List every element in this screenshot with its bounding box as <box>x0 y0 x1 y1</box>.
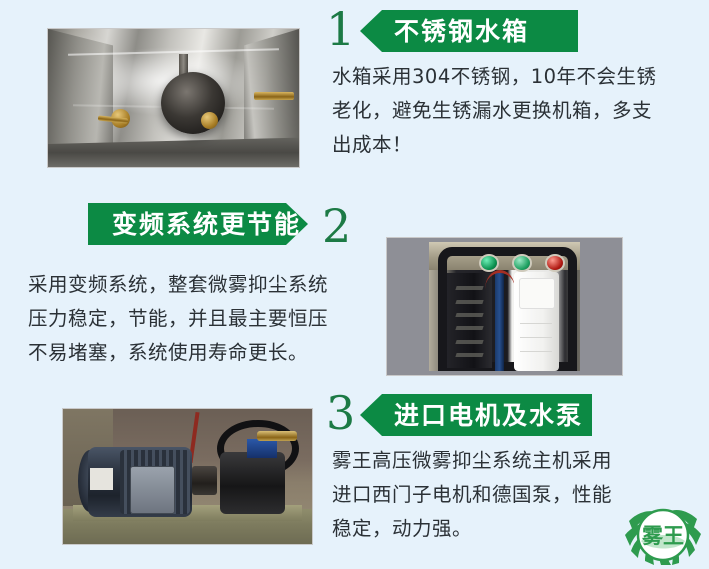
brass-pipe-right <box>254 92 294 100</box>
registered-mark-icon: ® <box>679 509 690 522</box>
vent-slit <box>456 353 484 357</box>
watermark-brand-text: 雾王 <box>642 524 684 548</box>
section-3-photo <box>62 408 313 545</box>
vent-slit <box>456 300 484 304</box>
section-2-banner: 变频系统更节能 <box>88 203 308 245</box>
control-cabinet-image <box>387 238 622 375</box>
vent-slit <box>456 340 484 344</box>
pump-blue-cover <box>247 439 277 458</box>
inverter-seam <box>520 337 552 338</box>
section-2-banner-title: 变频系统更节能 <box>112 212 301 237</box>
inverter-display-panel <box>519 278 555 310</box>
section-2-number: 2 <box>322 203 351 249</box>
brass-fitting-mid <box>201 112 218 129</box>
section-2-body: 采用变频系统，整套微雾抑尘系统 压力稳定，节能，并且最主要恒压 不易堵塞，系统使… <box>28 268 388 370</box>
shaft-coupling <box>192 466 217 496</box>
section-1-body: 水箱采用304不锈钢，10年不会生锈 老化，避免生锈漏水更换机箱，多支 出成本！ <box>332 60 702 162</box>
section-1-banner-title: 不锈钢水箱 <box>394 19 529 44</box>
vent-slit <box>456 286 484 290</box>
inverter-seam <box>520 323 552 324</box>
promo-page: 1 不锈钢水箱 水箱采用304不锈钢，10年不会生锈 老化，避免生锈漏水更换机箱… <box>0 0 709 569</box>
section-2-body-line-2: 压力稳定，节能，并且最主要恒压 <box>28 302 388 336</box>
section-3-banner-title: 进口电机及水泵 <box>394 403 583 428</box>
section-3-number: 3 <box>326 390 355 436</box>
brand-watermark-logo: 雾王 ® <box>621 491 705 567</box>
indicator-lamp-red <box>545 254 565 272</box>
motor-nameplate <box>90 468 112 490</box>
inverter-seam <box>520 351 552 352</box>
brass-fitting <box>257 431 297 442</box>
vent-slit <box>456 313 484 317</box>
section-3-body-line-1: 雾王高压微雾抑尘系统主机采用 <box>332 444 702 478</box>
section-2-photo <box>386 237 623 376</box>
vent-slit <box>456 326 484 330</box>
section-1-body-line-2: 老化，避免生锈漏水更换机箱，多支 <box>332 94 702 128</box>
pump-body <box>220 452 285 514</box>
section-3-banner: 进口电机及水泵 <box>360 394 592 436</box>
section-1-body-line-1: 水箱采用304不锈钢，10年不会生锈 <box>332 60 702 94</box>
section-1-number: 1 <box>326 6 355 52</box>
section-2-body-line-1: 采用变频系统，整套微雾抑尘系统 <box>28 268 388 302</box>
indicator-lamp-green-1 <box>479 254 499 272</box>
motor-terminal-box <box>130 466 174 514</box>
leaf-circle-logo-icon: 雾王 ® <box>621 491 705 567</box>
section-1-body-line-3: 出成本！ <box>332 128 702 162</box>
section-1-banner: 不锈钢水箱 <box>360 10 578 52</box>
section-1-photo <box>47 28 300 168</box>
indicator-lamp-green-2 <box>512 254 532 272</box>
inverter-unit <box>514 272 559 371</box>
motor-pump-image <box>63 409 312 544</box>
tank-interior-image <box>48 29 299 167</box>
section-2-body-line-3: 不易堵塞，系统使用寿命更长。 <box>28 336 388 370</box>
cabinet-interior <box>429 242 579 371</box>
